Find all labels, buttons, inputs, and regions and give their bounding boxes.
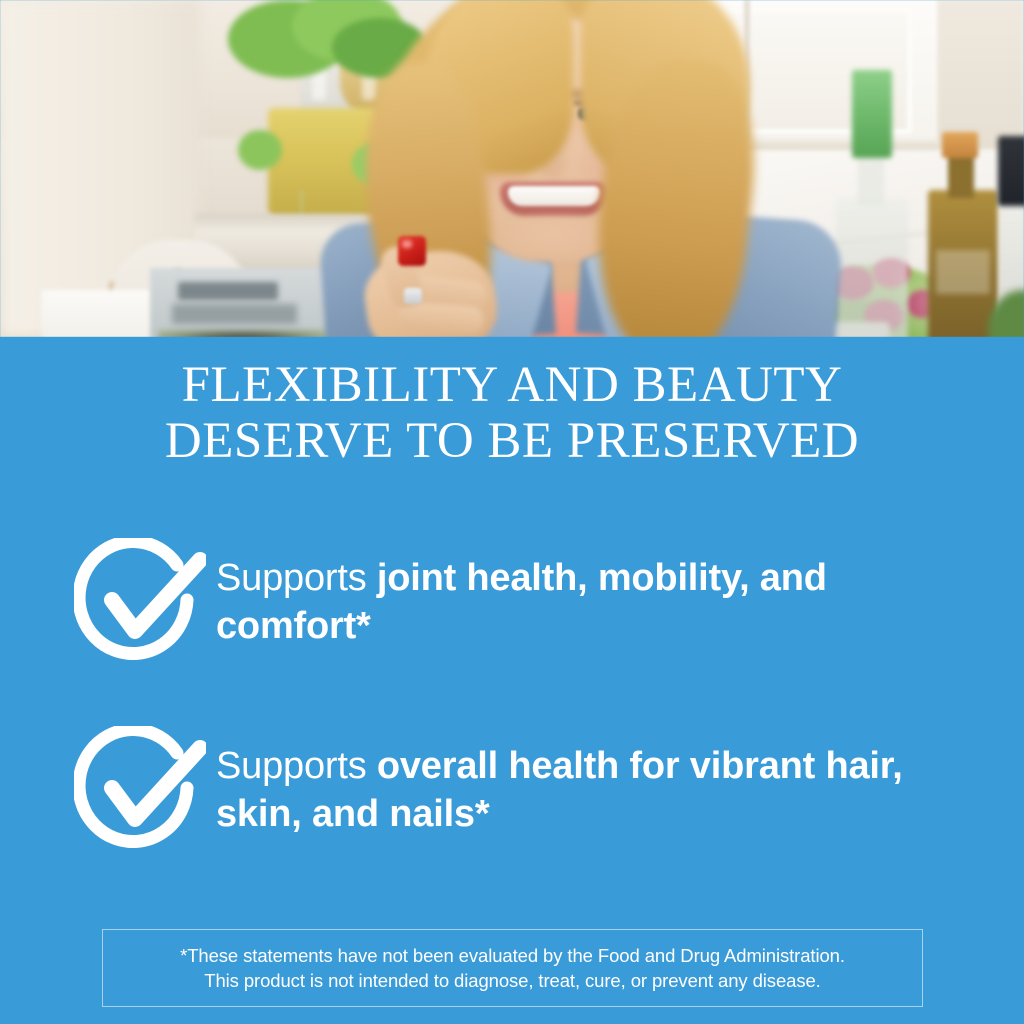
benefit-item: Supports overall health for vibrant hair… <box>0 730 1024 850</box>
headline: FLEXIBILITY AND BEAUTY DESERVE TO BE PRE… <box>0 357 1024 469</box>
benefit-lead: Supports <box>216 557 377 599</box>
benefit-text: Supports joint health, mobility, and com… <box>216 542 954 650</box>
fda-disclaimer-box: *These statements have not been evaluate… <box>102 929 923 1007</box>
cabinet-side <box>938 0 1024 150</box>
headline-line-1: FLEXIBILITY AND BEAUTY <box>0 357 1024 413</box>
cookbook-title-line <box>178 282 278 300</box>
benefit-item: Supports joint health, mobility, and com… <box>0 542 1024 662</box>
plant-leaf <box>238 130 282 170</box>
chin <box>508 212 604 258</box>
blue-content-panel: FLEXIBILITY AND BEAUTY DESERVE TO BE PRE… <box>0 337 1024 1024</box>
hero-photo <box>0 0 1024 337</box>
dark-jar <box>998 136 1024 206</box>
disclaimer-line-2: This product is not intended to diagnose… <box>204 970 820 991</box>
marketing-graphic: FLEXIBILITY AND BEAUTY DESERVE TO BE PRE… <box>0 0 1024 1024</box>
cookbook-title-line <box>172 304 297 324</box>
benefits-list: Supports joint health, mobility, and com… <box>0 542 1024 918</box>
glass-bottle <box>836 198 908 337</box>
teeth <box>508 186 600 206</box>
green-bottle-cap <box>852 70 892 158</box>
check-circle-icon <box>74 538 206 662</box>
check-circle-icon <box>74 726 206 850</box>
benefit-text: Supports overall health for vibrant hair… <box>216 730 954 838</box>
fda-disclaimer-text: *These statements have not been evaluate… <box>180 943 845 993</box>
disclaimer-line-1: *These statements have not been evaluate… <box>180 945 845 966</box>
bottle-label <box>936 250 990 294</box>
headline-line-2: DESERVE TO BE PRESERVED <box>0 413 1024 469</box>
primal-gourmet-cookbook <box>150 268 330 337</box>
ring <box>404 288 422 304</box>
bottle-neck <box>858 150 884 206</box>
cookbook-cover-photo <box>158 330 333 337</box>
gold-bottle-cap <box>942 132 978 158</box>
benefit-lead: Supports <box>216 745 377 787</box>
gummy-highlight <box>402 240 412 248</box>
